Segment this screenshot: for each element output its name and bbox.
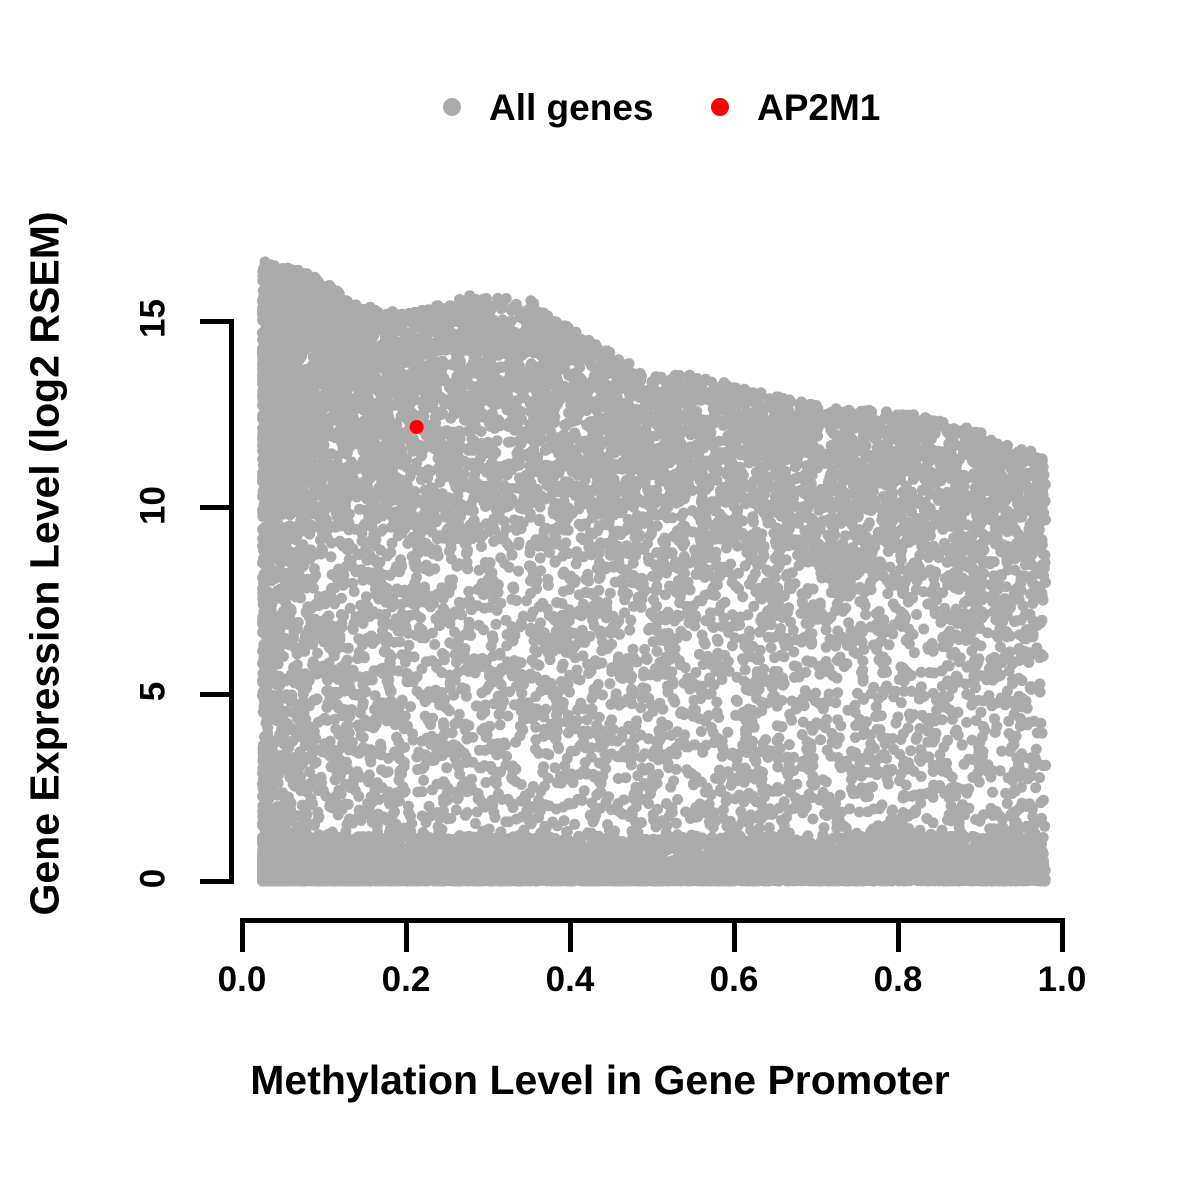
y-tick-0 <box>200 879 234 884</box>
plot-area <box>242 321 1062 881</box>
x-tick-0.2 <box>404 918 409 952</box>
scatter-plot-figure: All genes AP2M1 051015 Gene Expression L… <box>0 0 1200 1200</box>
x-axis-line <box>242 918 1063 923</box>
x-tick-label-0.4: 0.4 <box>510 962 630 997</box>
x-tick-label-0.6: 0.6 <box>674 962 794 997</box>
scatter-points-canvas <box>242 321 1062 881</box>
x-tick-0.0 <box>240 918 245 952</box>
y-axis-title: Gene Expression Level (log2 RSEM) <box>25 154 66 974</box>
y-tick-label-10: 10 <box>136 470 171 540</box>
y-tick-5 <box>200 692 234 697</box>
ap2m1-point <box>410 420 424 434</box>
y-tick-label-15: 15 <box>136 284 171 354</box>
series-ap2m1 <box>410 420 424 434</box>
y-tick-15 <box>200 319 234 324</box>
x-axis-title: Methylation Level in Gene Promoter <box>0 1060 1200 1101</box>
x-tick-1.0 <box>1060 918 1065 952</box>
y-tick-label-0: 0 <box>136 844 171 914</box>
legend-marker-all-genes <box>443 98 461 116</box>
y-tick-10 <box>200 505 234 510</box>
x-tick-0.4 <box>568 918 573 952</box>
x-tick-0.8 <box>896 918 901 952</box>
legend-marker-ap2m1 <box>711 98 729 116</box>
x-tick-label-1.0: 1.0 <box>1002 962 1122 997</box>
y-axis-line <box>229 321 234 882</box>
x-tick-label-0.0: 0.0 <box>182 962 302 997</box>
legend-label-ap2m1: AP2M1 <box>757 89 880 126</box>
x-tick-0.6 <box>732 918 737 952</box>
y-tick-label-5: 5 <box>136 657 171 727</box>
series-all-genes <box>257 256 1051 886</box>
plot-legend: All genes AP2M1 <box>0 0 1200 160</box>
legend-label-all-genes: All genes <box>489 89 654 126</box>
x-tick-label-0.8: 0.8 <box>838 962 958 997</box>
x-tick-label-0.2: 0.2 <box>346 962 466 997</box>
